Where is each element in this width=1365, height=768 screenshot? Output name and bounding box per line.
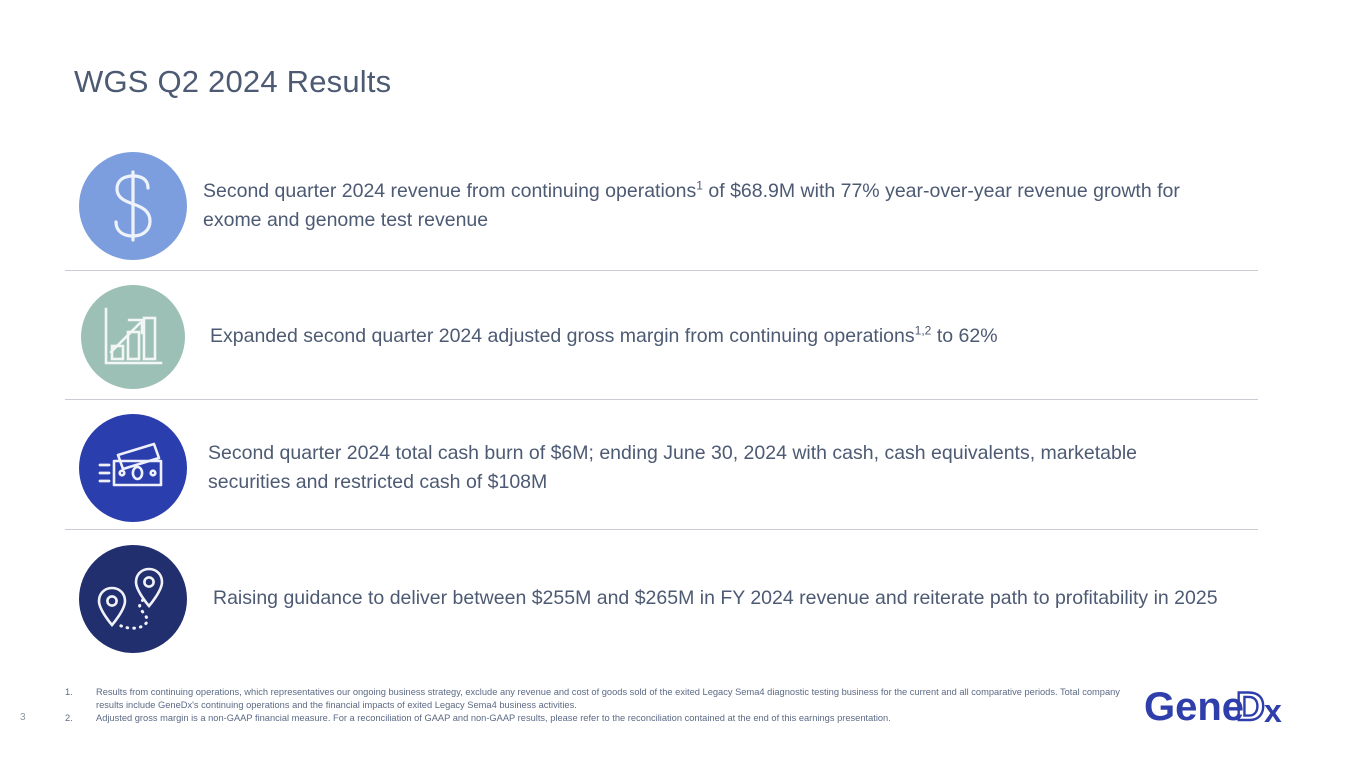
bullet-text: Second quarter 2024 total cash burn of $… <box>208 439 1168 497</box>
bullet-row-guidance: Raising guidance to deliver between $255… <box>0 533 1365 664</box>
row-divider <box>65 399 1258 400</box>
genedx-logo: Gene D x <box>1144 686 1320 732</box>
bullet-row-revenue: Second quarter 2024 revenue from continu… <box>0 140 1365 271</box>
slide-canvas: WGS Q2 2024 Results Second quarter 2024 … <box>0 0 1365 768</box>
bullet-text: Second quarter 2024 revenue from continu… <box>203 177 1225 235</box>
footnote-item: 1. Results from continuing operations, w… <box>65 686 1125 711</box>
growth-bar-chart-icon <box>81 285 185 389</box>
footnote-marker: 1 <box>696 178 703 192</box>
page-number: 3 <box>20 712 26 723</box>
bullet-text-main: Expanded second quarter 2024 adjusted gr… <box>210 325 915 347</box>
bullet-text-main: Second quarter 2024 total cash burn of $… <box>208 442 1137 493</box>
row-divider <box>65 529 1258 530</box>
bullet-text-rest: to 62% <box>931 325 997 347</box>
page-title: WGS Q2 2024 Results <box>74 64 391 100</box>
footnote-text: Adjusted gross margin is a non-GAAP fina… <box>96 712 1125 725</box>
footnote-number: 2. <box>65 712 96 725</box>
bullet-text-main: Second quarter 2024 revenue from continu… <box>203 180 696 202</box>
footnote-text: Results from continuing operations, whic… <box>96 686 1125 711</box>
dollar-sign-icon <box>79 152 187 260</box>
bullet-row-cash-burn: Second quarter 2024 total cash burn of $… <box>0 402 1365 533</box>
bullet-list: Second quarter 2024 revenue from continu… <box>0 140 1365 664</box>
logo-text-x: x <box>1264 693 1282 729</box>
footnote-number: 1. <box>65 686 96 711</box>
footnotes-block: 1. Results from continuing operations, w… <box>65 686 1125 726</box>
footnote-item: 2. Adjusted gross margin is a non-GAAP f… <box>65 712 1125 725</box>
bullet-text-main: Raising guidance to deliver between $255… <box>213 587 1218 609</box>
logo-text-gene: Gene <box>1144 686 1244 729</box>
cash-banknotes-icon <box>79 414 187 522</box>
logo-text-d: D <box>1236 686 1265 729</box>
bullet-text: Raising guidance to deliver between $255… <box>213 584 1218 613</box>
footnote-marker: 1,2 <box>915 324 932 338</box>
bullet-row-gross-margin: Expanded second quarter 2024 adjusted gr… <box>0 271 1365 402</box>
route-map-pins-icon <box>79 545 187 653</box>
bullet-text: Expanded second quarter 2024 adjusted gr… <box>210 322 998 351</box>
